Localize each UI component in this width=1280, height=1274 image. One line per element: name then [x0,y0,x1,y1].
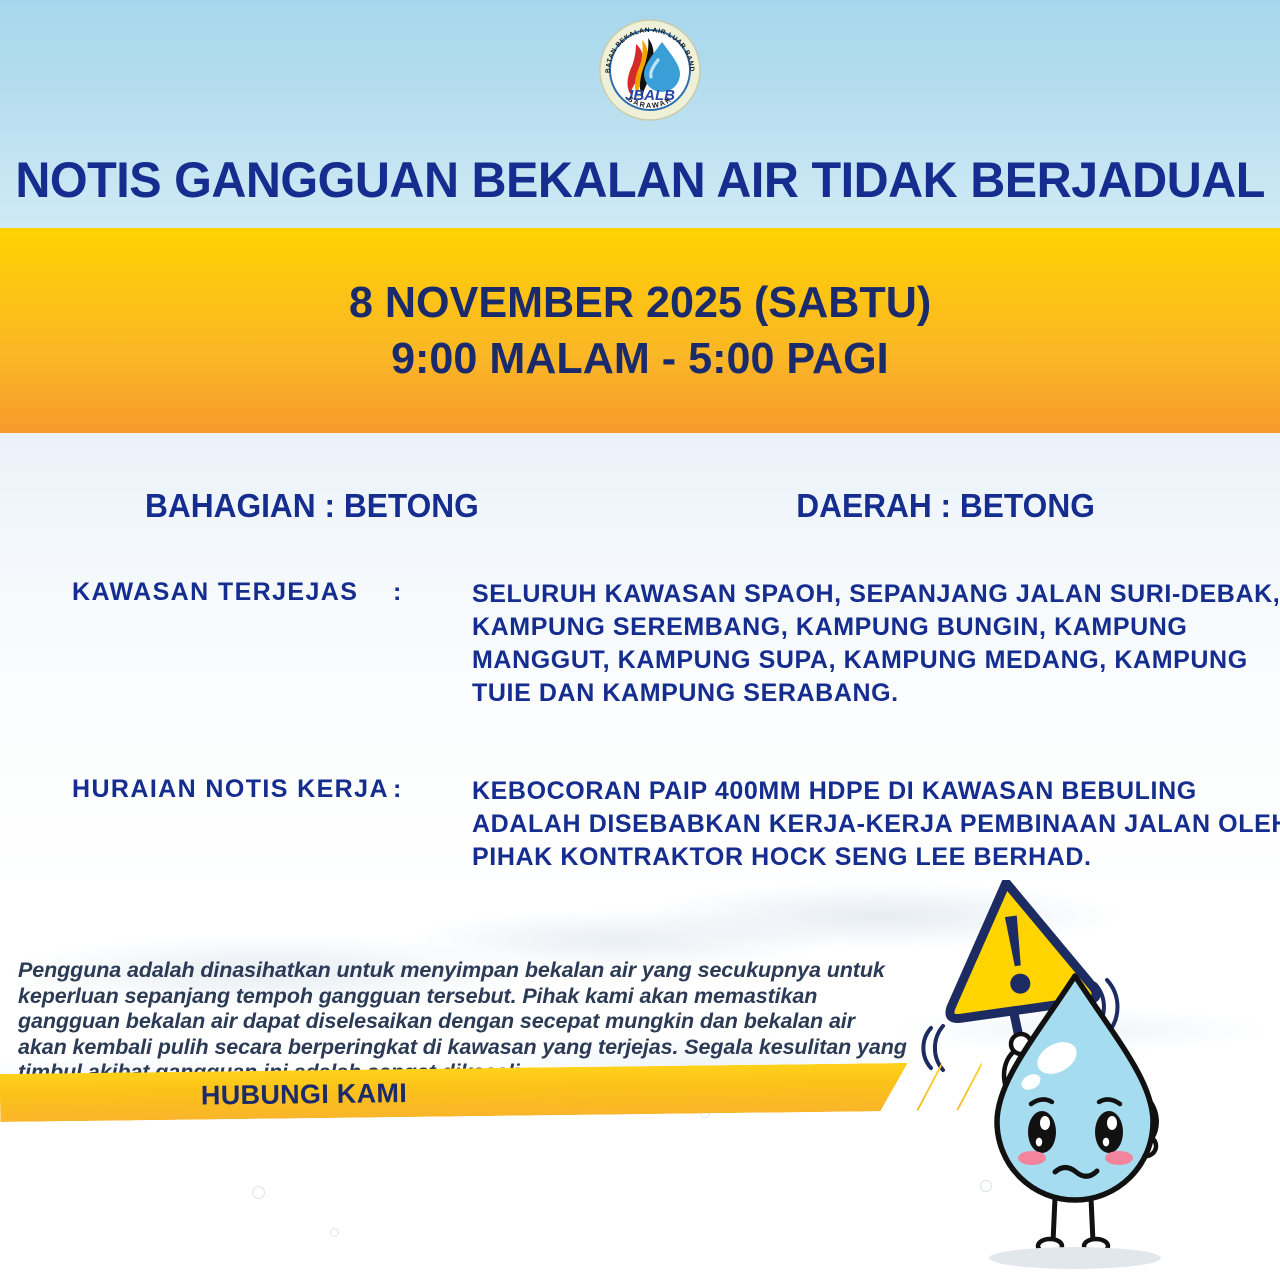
notice-time: 9:00 MALAM - 5:00 PAGI [391,334,889,384]
contact-banner-title: HUBUNGI KAMI [201,1078,407,1112]
page-title-text: NOTIS GANGGUAN BEKALAN AIR TIDAK BERJADU… [15,151,1265,209]
work-description-value: KEBOCORAN PAIP 400MM HDPE DI KAWASAN BEB… [472,775,1198,874]
date-time-banner: 8 NOVEMBER 2025 (SABTU) 9:00 MALAM - 5:0… [0,228,1280,433]
daerah-label: DAERAH : BETONG [796,487,1095,525]
affected-areas-value: SELURUH KAWASAN SPAOH, SEPANJANG JALAN S… [472,578,1198,710]
work-description-line: ADALAH DISEBABKAN KERJA-KERJA PEMBINAAN … [472,808,1198,841]
jbalb-logo: JBALB JABATAN BEKALAN AIR LUAR BANDAR SA… [596,8,704,128]
notice-poster: JBALB JABATAN BEKALAN AIR LUAR BANDAR SA… [0,0,1280,1274]
work-description-label: HURAIAN NOTIS KERJA [72,775,382,804]
contact-details: CALL CENTRE JBALB SARAWAK 082-262211 JBA… [0,1140,1280,1274]
work-description-line: KEBOCORAN PAIP 400MM HDPE DI KAWASAN BEB… [472,775,1198,808]
affected-areas-line: SELURUH KAWASAN SPAOH, SEPANJANG JALAN S… [472,578,1198,611]
work-description-line: PIHAK KONTRAKTOR HOCK SENG LEE BERHAD. [472,841,1198,874]
region-row: BAHAGIAN : BETONG DAERAH : BETONG [0,487,1280,535]
banner-stripe-decor [916,1062,943,1110]
affected-areas-line: TUIE DAN KAMPUNG SERABANG. [472,677,1198,710]
affected-areas-colon: : [393,578,401,607]
affected-areas-line: MANGGUT, KAMPUNG SUPA, KAMPUNG MEDANG, K… [472,644,1198,677]
notice-date: 8 NOVEMBER 2025 (SABTU) [349,278,931,328]
work-description-colon: : [393,775,401,804]
affected-areas-line: KAMPUNG SEREMBANG, KAMPUNG BUNGIN, KAMPU… [472,611,1198,644]
affected-areas-label: KAWASAN TERJEJAS [72,578,382,607]
bahagian-label: BAHAGIAN : BETONG [145,487,479,525]
page-title: NOTIS GANGGUAN BEKALAN AIR TIDAK BERJADU… [0,145,1280,215]
banner-stripe-decor [956,1062,983,1110]
